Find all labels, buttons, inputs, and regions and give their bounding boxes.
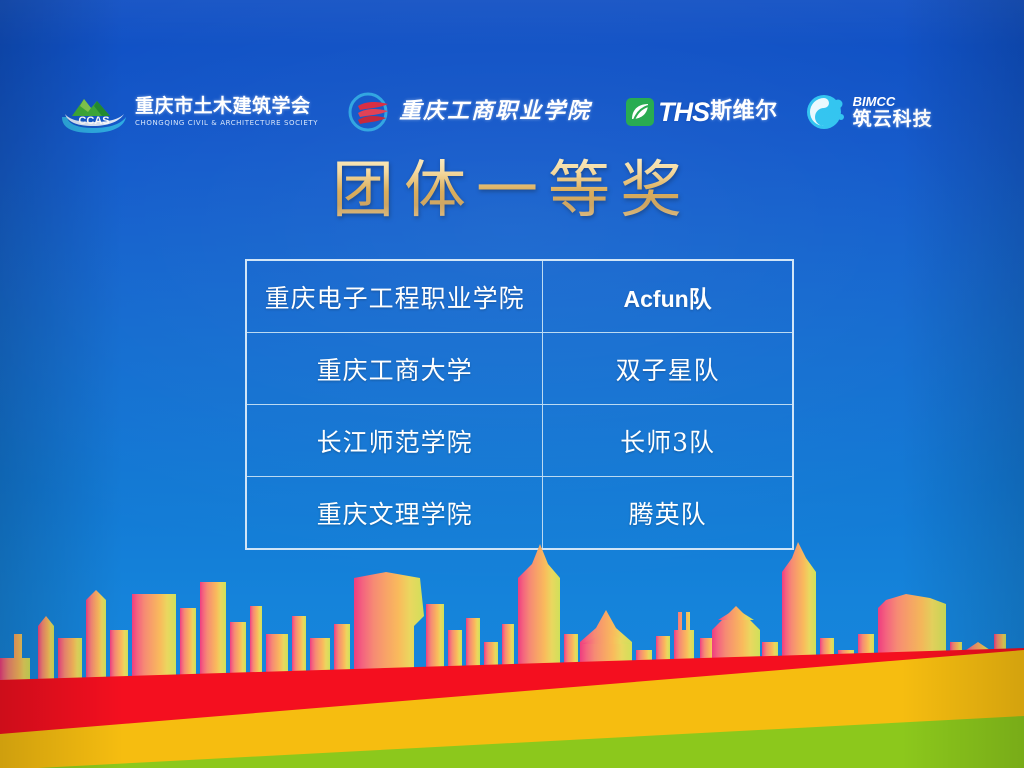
- page-title: 团体一等奖: [0, 152, 1024, 228]
- sponsor-name-en: THS: [658, 97, 709, 128]
- sponsor-name-cn: 重庆市土木建筑学会: [135, 97, 318, 116]
- table-cell-team: 长师3队: [543, 405, 793, 477]
- table-cell-school: 长江师范学院: [246, 405, 543, 477]
- team-name: Acfun队: [624, 286, 712, 312]
- mountain-wave-logo-icon: CCAS: [58, 90, 130, 134]
- award-table: 重庆电子工程职业学院 Acfun队 重庆工商大学 双子星队 长江师范学院 长师3…: [245, 259, 794, 550]
- table-cell-school: 重庆电子工程职业学院: [246, 260, 543, 333]
- table-cell-team: Acfun队: [543, 260, 793, 333]
- sponsor-logo-ths: THS 斯维尔: [625, 84, 778, 140]
- sponsor-logo-row: CCAS 重庆市土木建筑学会 CHONGQING CIVIL & ARCHITE…: [0, 84, 1024, 140]
- sponsor-name-en: CHONGQING CIVIL & ARCHITECTURE SOCIETY: [135, 119, 318, 127]
- table-cell-school: 重庆工商大学: [246, 333, 543, 405]
- sponsor-name-cn: 斯维尔: [710, 101, 778, 123]
- sponsor-logo-ccas: CCAS 重庆市土木建筑学会 CHONGQING CIVIL & ARCHITE…: [58, 84, 318, 140]
- sponsor-logo-ccas-text: 重庆市土木建筑学会 CHONGQING CIVIL & ARCHITECTURE…: [135, 97, 318, 127]
- svg-text:CCAS: CCAS: [78, 115, 109, 127]
- sponsor-name-en: BIMCC: [853, 95, 933, 108]
- skyline-svg: [0, 538, 1024, 768]
- cyan-network-circle-logo-icon: [804, 90, 848, 134]
- table-row: 长江师范学院 长师3队: [246, 405, 793, 477]
- sponsor-name-cn: 筑云科技: [853, 110, 933, 129]
- sponsor-logo-cqtbi: 重庆工商职业学院: [346, 84, 591, 140]
- green-leaf-square-logo-icon: [625, 97, 655, 127]
- city-skyline-decoration: [0, 538, 1024, 768]
- table-row: 重庆电子工程职业学院 Acfun队: [246, 260, 793, 333]
- sponsor-logo-cqtbi-text: 重庆工商职业学院: [399, 101, 591, 123]
- sponsor-logo-bimcc-text: BIMCC 筑云科技: [853, 95, 933, 129]
- table-row: 重庆工商大学 双子星队: [246, 333, 793, 405]
- sponsor-logo-ths-text: THS 斯维尔: [655, 97, 778, 128]
- red-swoosh-circle-logo-icon: [346, 90, 394, 134]
- slide-canvas: CCAS 重庆市土木建筑学会 CHONGQING CIVIL & ARCHITE…: [0, 0, 1024, 768]
- table-cell-team: 双子星队: [543, 333, 793, 405]
- sponsor-logo-bimcc: BIMCC 筑云科技: [804, 84, 933, 140]
- sponsor-name-cn: 重庆工商职业学院: [399, 101, 591, 123]
